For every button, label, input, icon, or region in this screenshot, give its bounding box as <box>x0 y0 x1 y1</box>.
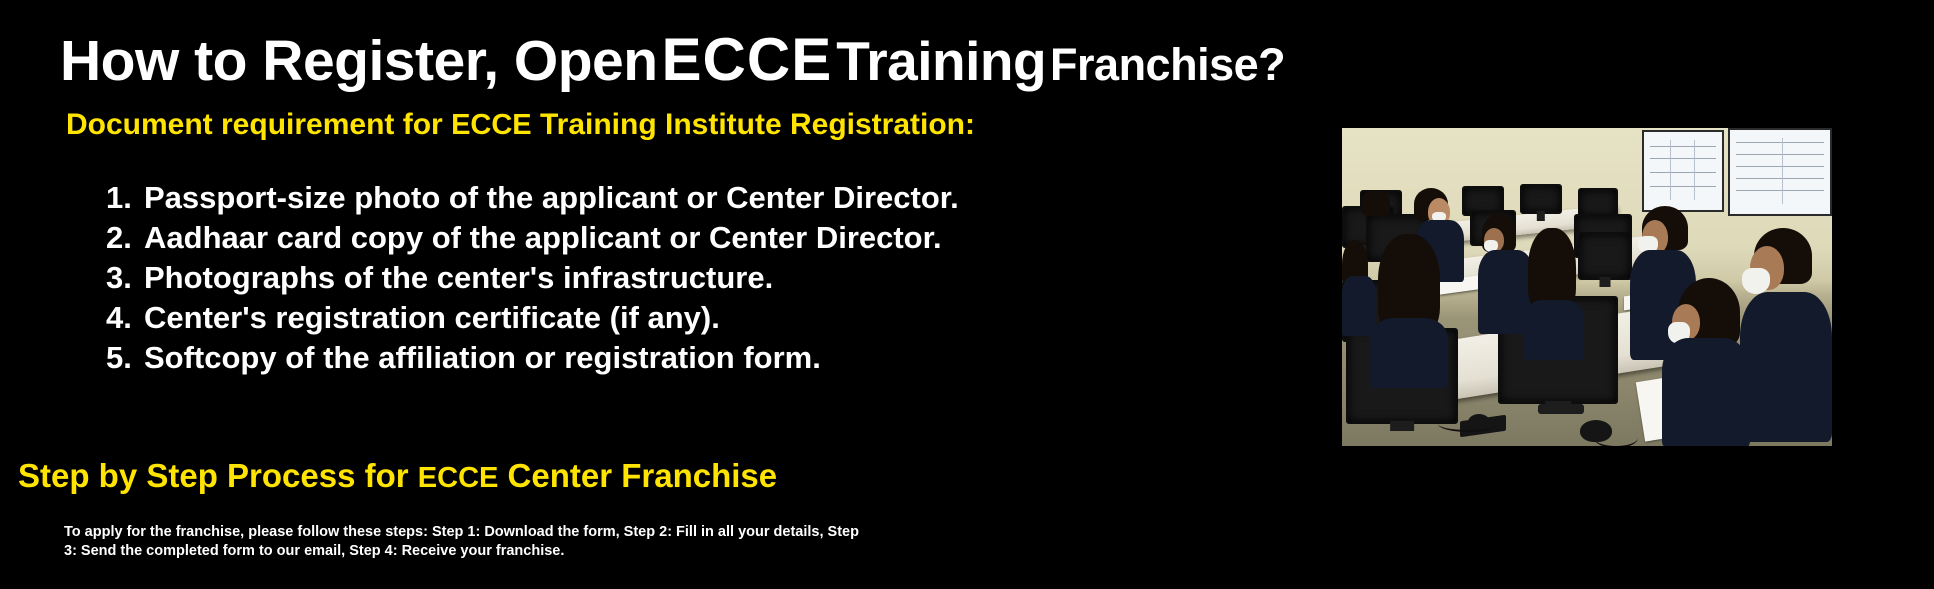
list-item-number: 3. <box>106 258 144 298</box>
document-requirement-heading: Document requirement for ECCE Training I… <box>66 108 975 142</box>
list-item-number: 4. <box>106 298 144 338</box>
list-item: 3.Photographs of the center's infrastruc… <box>106 258 959 298</box>
cable <box>1438 416 1498 432</box>
title-part-1: How to Register, Open <box>60 29 658 93</box>
subheading-part-2: Training Institute Registration: <box>540 108 975 141</box>
classroom-photo <box>1342 128 1832 446</box>
list-item-label: Aadhaar card copy of the applicant or Ce… <box>144 220 942 255</box>
list-item: 5.Softcopy of the affiliation or registr… <box>106 338 959 378</box>
list-item-label: Center's registration certificate (if an… <box>144 300 720 335</box>
subheading-part-1: Document requirement for <box>66 108 443 141</box>
monitor-stand <box>1538 404 1584 414</box>
list-item: 4.Center's registration certificate (if … <box>106 298 959 338</box>
title-part-2: Training <box>836 30 1046 92</box>
monitor-icon <box>1578 232 1632 280</box>
page-title: How to Register, Open ECCE Training Fran… <box>60 30 1285 90</box>
document-requirements-list: 1.Passport-size photo of the applicant o… <box>106 178 959 378</box>
subheading-brand-ecce: ECCE <box>451 109 532 141</box>
list-item-number: 5. <box>106 338 144 378</box>
list-item-label: Softcopy of the affiliation or registrat… <box>144 340 821 375</box>
ecce-franchise-banner: How to Register, Open ECCE Training Fran… <box>0 0 1934 589</box>
list-item-label: Passport-size photo of the applicant or … <box>144 180 959 215</box>
step-heading-part-2: Center Franchise <box>508 457 778 494</box>
classroom-photo-image <box>1342 128 1832 446</box>
list-item-number: 1. <box>106 178 144 218</box>
title-part-3: Franchise? <box>1050 39 1285 90</box>
list-item: 1.Passport-size photo of the applicant o… <box>106 178 959 218</box>
list-item-number: 2. <box>106 218 144 258</box>
whiteboard-icon <box>1642 130 1724 212</box>
steps-paragraph: To apply for the franchise, please follo… <box>64 523 864 561</box>
list-item-label: Photographs of the center's infrastructu… <box>144 260 773 295</box>
step-heading-brand-ecce: ECCE <box>418 462 499 494</box>
step-by-step-heading: Step by Step Process for ECCE Center Fra… <box>18 458 777 495</box>
title-brand-ecce: ECCE <box>662 26 833 93</box>
whiteboard-icon <box>1728 128 1832 216</box>
monitor-icon <box>1520 184 1562 214</box>
list-item: 2.Aadhaar card copy of the applicant or … <box>106 218 959 258</box>
step-heading-part-1: Step by Step Process for <box>18 457 409 494</box>
cable <box>1594 428 1638 446</box>
